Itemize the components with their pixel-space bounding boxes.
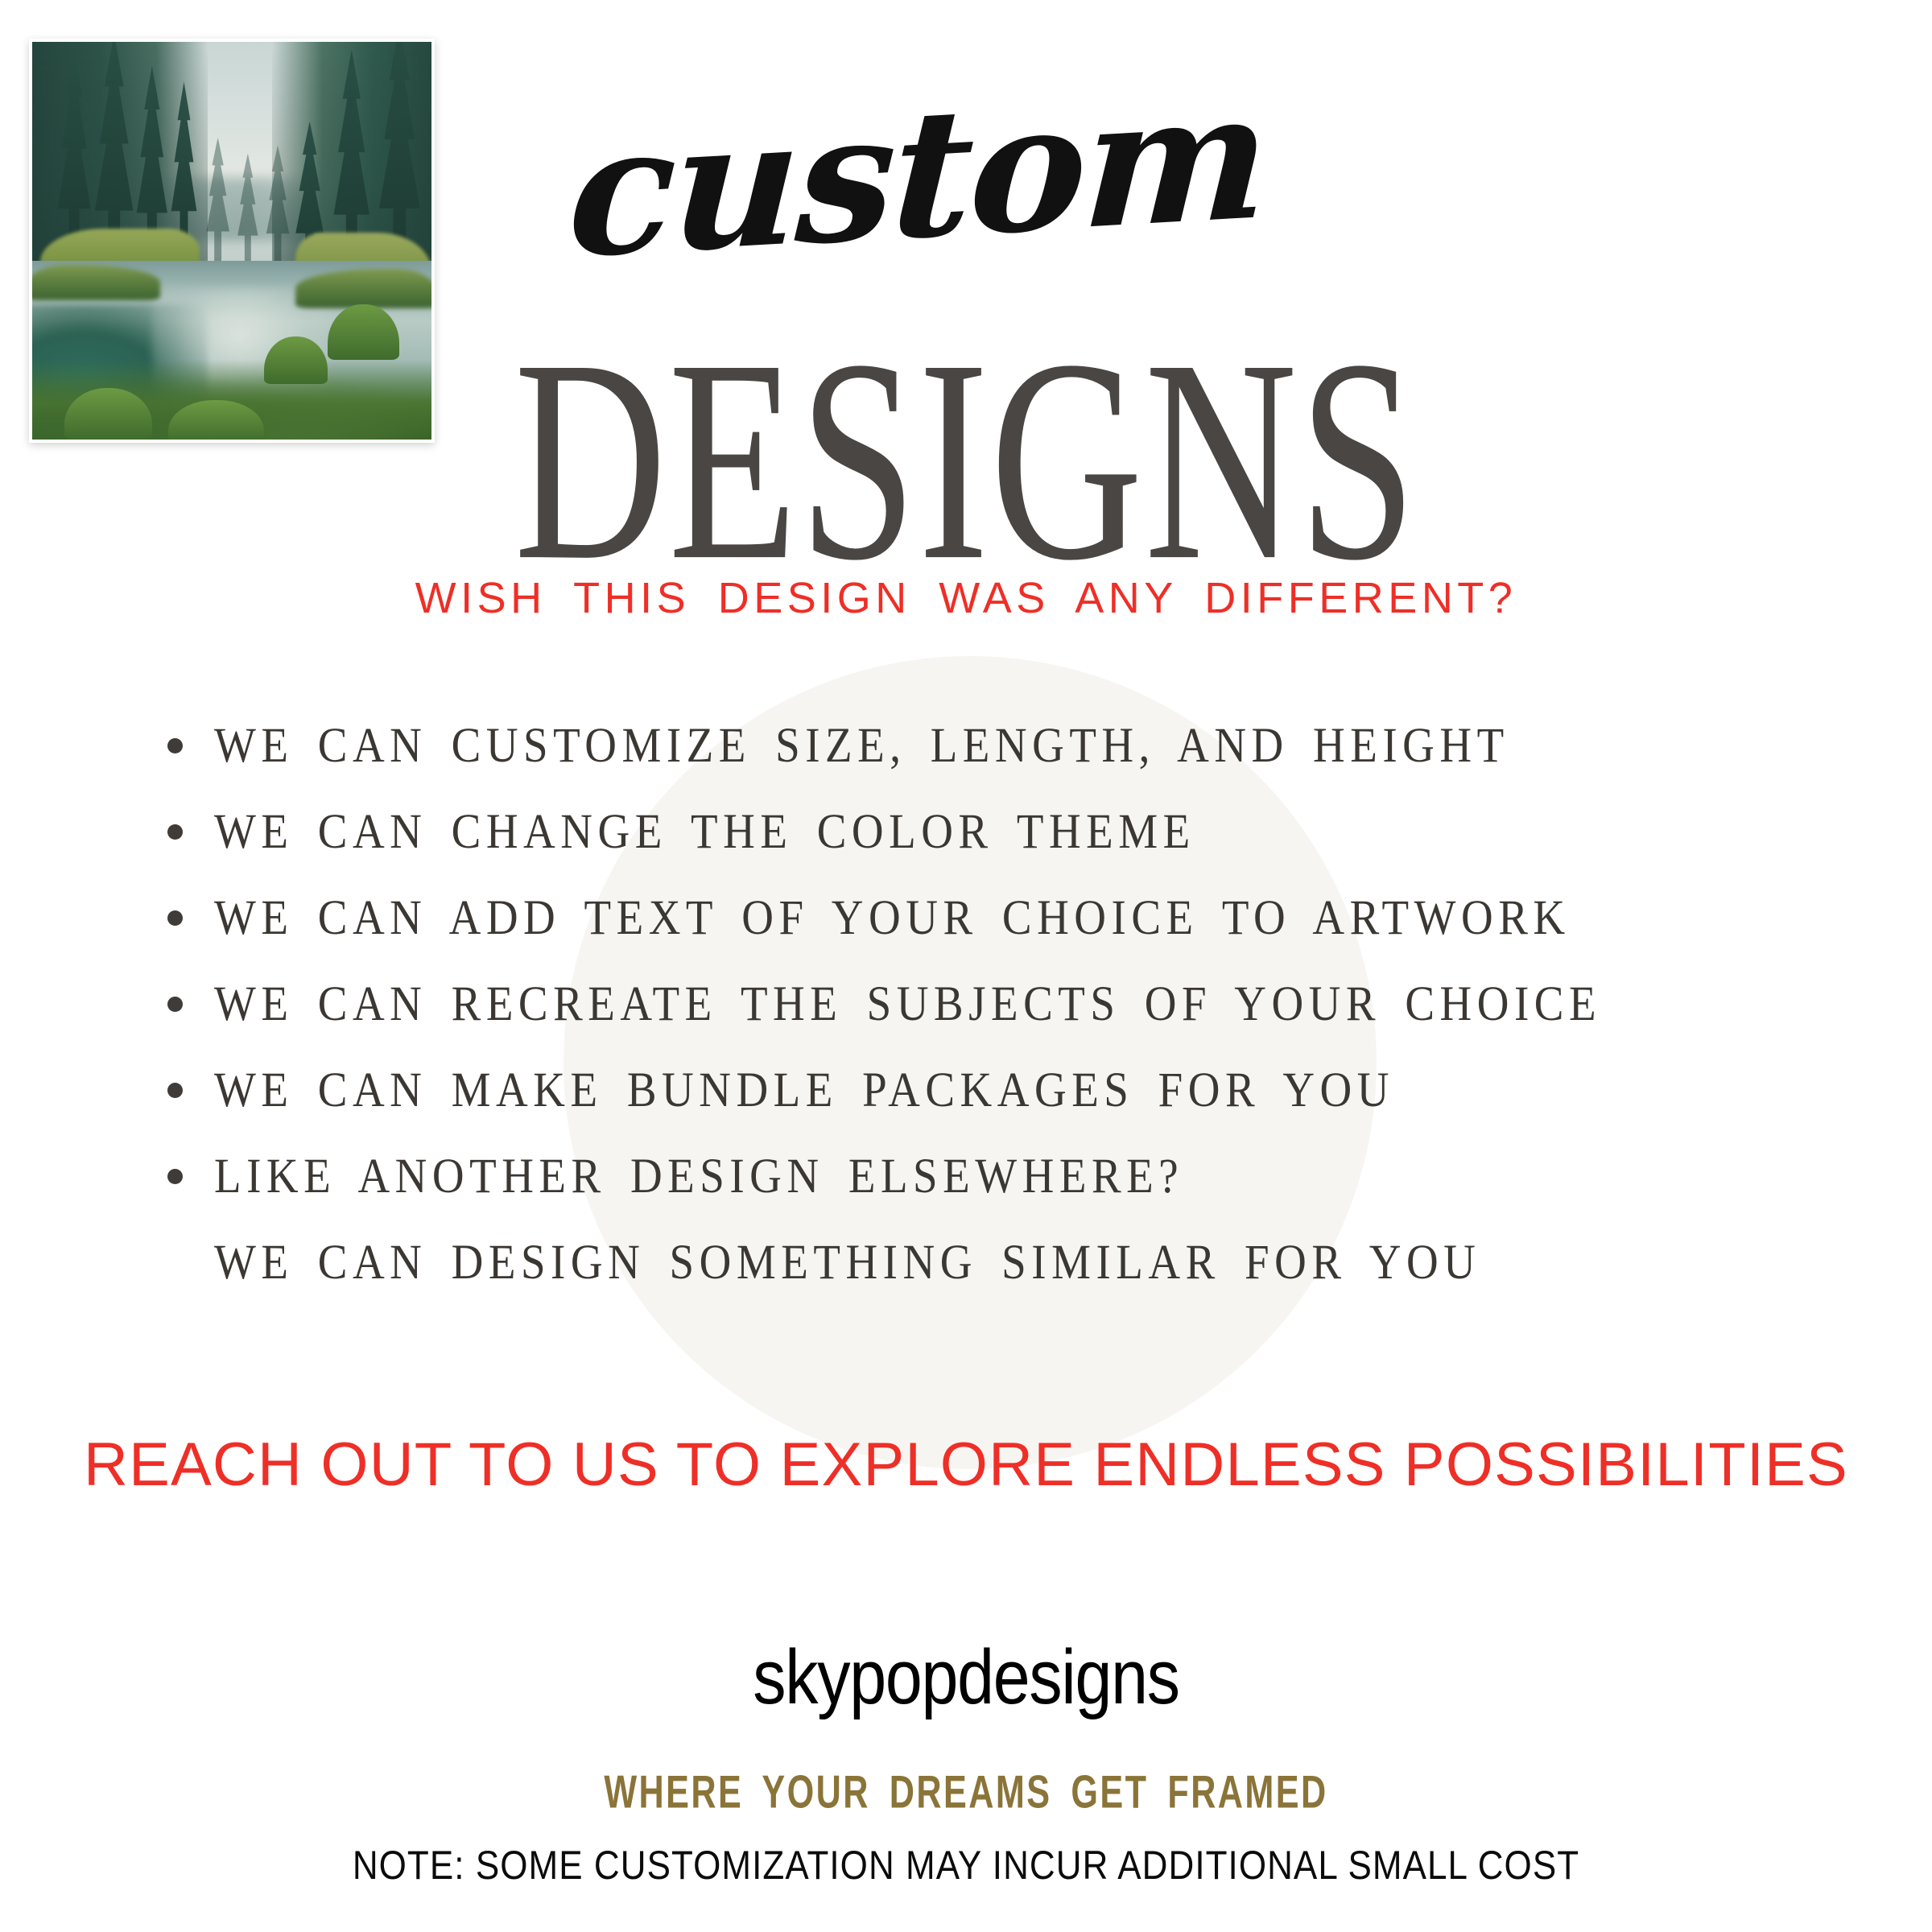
- brand-logo-text: skypopdesigns: [135, 1639, 1797, 1716]
- list-item-label: WE CAN RECREATE THE SUBJECTS OF YOUR CHO…: [161, 979, 1601, 1029]
- list-item-label: WE CAN MAKE BUNDLE PACKAGES FOR YOU: [161, 1065, 1394, 1115]
- list-item: WE CAN CHANGE THE COLOR THEME: [161, 788, 1811, 874]
- list-item: WE CAN CUSTOMIZE SIZE, LENGTH, AND HEIGH…: [161, 702, 1811, 788]
- headline-script-custom: custom: [448, 60, 1389, 289]
- list-item-label: WE CAN ADD TEXT OF YOUR CHOICE TO ARTWOR…: [161, 893, 1571, 943]
- list-item-label: LIKE ANOTHER DESIGN ELSEWHERE?: [161, 1151, 1183, 1201]
- list-item-label: WE CAN DESIGN SOMETHING SIMILAR FOR YOU: [161, 1237, 1480, 1287]
- list-item: WE CAN RECREATE THE SUBJECTS OF YOUR CHO…: [161, 960, 1811, 1046]
- list-item: WE CAN MAKE BUNDLE PACKAGES FOR YOU: [161, 1046, 1811, 1133]
- list-item-continuation: WE CAN DESIGN SOMETHING SIMILAR FOR YOU: [161, 1219, 1811, 1305]
- call-to-action-text: REACH OUT TO US TO EXPLORE ENDLESS POSSI…: [0, 1435, 1932, 1496]
- page-title-designs: DESIGNS: [19, 316, 1913, 605]
- list-item: LIKE ANOTHER DESIGN ELSEWHERE?: [161, 1133, 1811, 1219]
- list-item-label: WE CAN CHANGE THE COLOR THEME: [161, 807, 1195, 857]
- brand-tagline: WHERE YOUR DREAMS GET FRAMED: [193, 1769, 1739, 1815]
- promo-poster: custom DESIGNS WISH THIS DESIGN WAS ANY …: [0, 0, 1932, 1932]
- footnote-cost-disclaimer: NOTE: SOME CUSTOMIZATION MAY INCUR ADDIT…: [116, 1845, 1816, 1885]
- feature-list: WE CAN CUSTOMIZE SIZE, LENGTH, AND HEIGH…: [161, 702, 1811, 1305]
- tagline-question: WISH THIS DESIGN WAS ANY DIFFERENT?: [0, 576, 1932, 620]
- list-item-label: WE CAN CUSTOMIZE SIZE, LENGTH, AND HEIGH…: [161, 720, 1509, 770]
- list-item: WE CAN ADD TEXT OF YOUR CHOICE TO ARTWOR…: [161, 874, 1811, 960]
